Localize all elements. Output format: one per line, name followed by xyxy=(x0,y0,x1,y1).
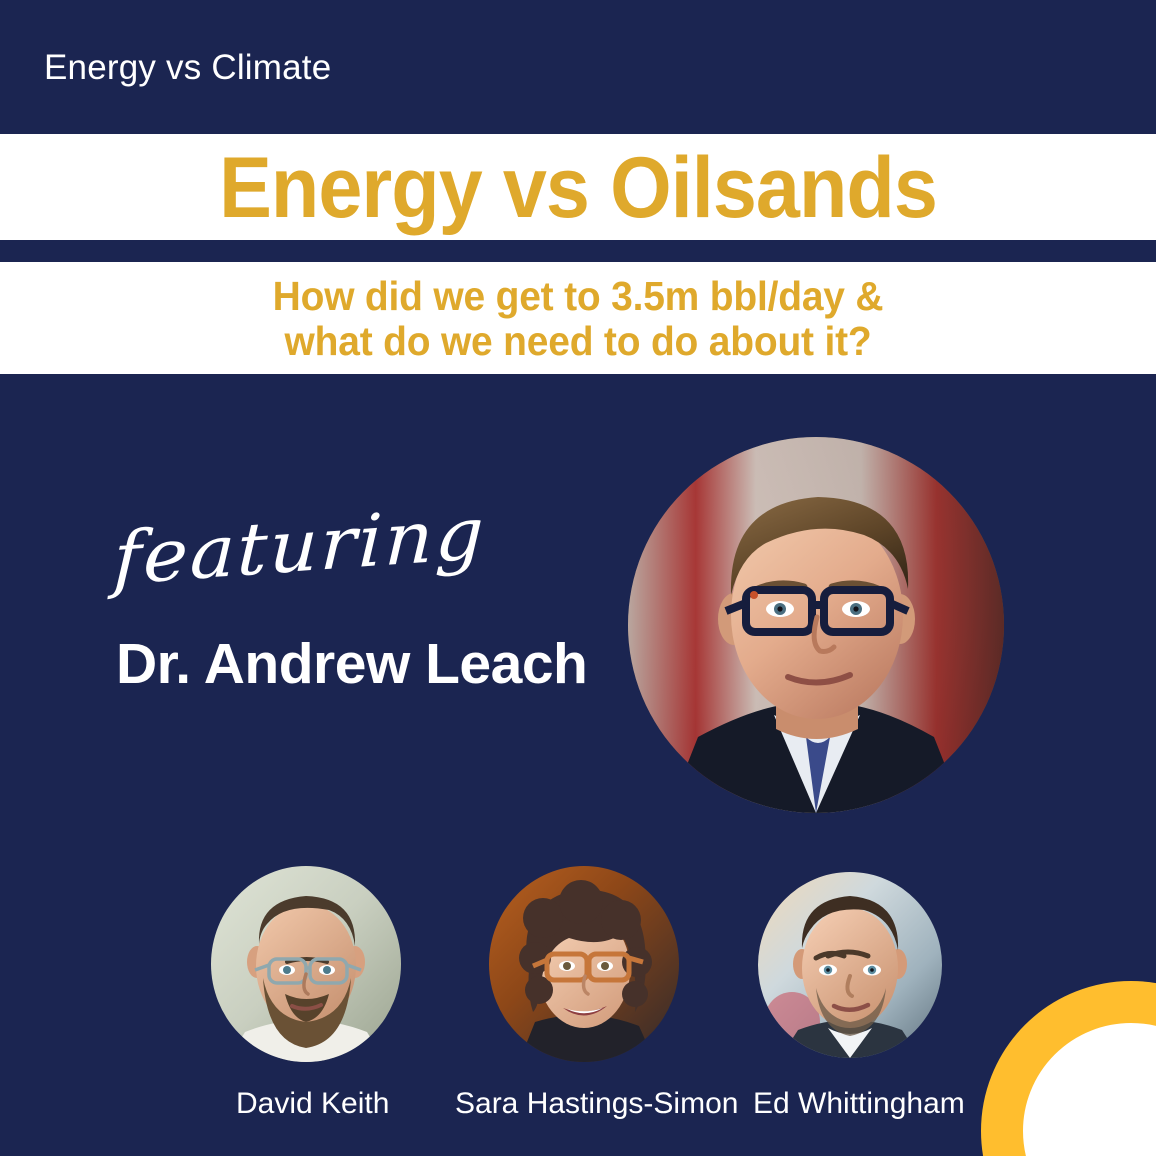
panelist-portrait-1-image xyxy=(211,866,401,1062)
panelist-portrait-1 xyxy=(211,866,401,1062)
panelist-name-1: David Keith xyxy=(236,1087,389,1121)
page-subtitle: How did we get to 3.5m bbl/day & what do… xyxy=(29,274,1127,364)
panelist-name-3: Ed Whittingham xyxy=(753,1087,965,1121)
subtitle-band: How did we get to 3.5m bbl/day & what do… xyxy=(0,262,1156,374)
brand-band: Energy vs Climate xyxy=(0,0,1156,134)
event-promo-poster: Energy vs Climate Energy vs Oilsands How… xyxy=(0,0,1156,1156)
yellow-arc-shape xyxy=(981,981,1156,1156)
corner-ring-decoration xyxy=(976,976,1156,1156)
divider-bar xyxy=(0,240,1156,262)
brand-title: Energy vs Climate xyxy=(44,48,331,88)
panelist-portrait-3 xyxy=(758,872,942,1058)
headliner-portrait xyxy=(628,437,1004,813)
subtitle-line-2: what do we need to do about it? xyxy=(29,319,1127,364)
panelist-portrait-2 xyxy=(489,866,679,1062)
panelist-name-2: Sara Hastings-Simon xyxy=(455,1087,738,1121)
headliner-name: Dr. Andrew Leach xyxy=(116,632,587,696)
title-band: Energy vs Oilsands xyxy=(0,134,1156,240)
featuring-kicker: featuring xyxy=(112,494,487,598)
headliner-portrait-image xyxy=(628,437,1004,813)
subtitle-line-1: How did we get to 3.5m bbl/day & xyxy=(29,274,1127,319)
panelist-portrait-3-image xyxy=(758,872,942,1058)
panelist-portrait-2-image xyxy=(489,866,679,1062)
page-title: Energy vs Oilsands xyxy=(46,142,1110,234)
